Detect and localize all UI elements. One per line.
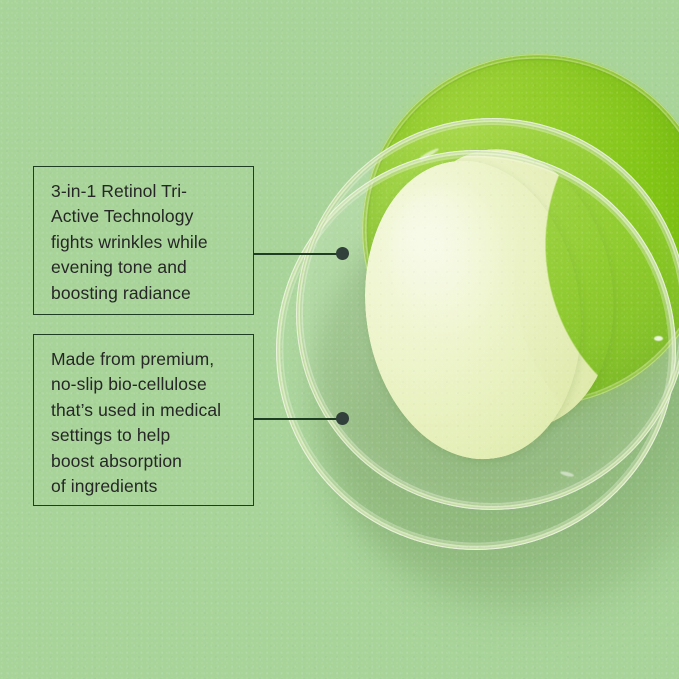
leader-line-retinol bbox=[253, 253, 339, 255]
leader-line-biocellulose bbox=[253, 418, 339, 420]
product-feature-graphic: 3-in-1 Retinol Tri- Active Technology fi… bbox=[0, 0, 679, 679]
callout-box-biocellulose: Made from premium, no-slip bio-cellulose… bbox=[33, 334, 254, 506]
rim-highlight-speck bbox=[654, 336, 663, 341]
callout-text-retinol: 3-in-1 Retinol Tri- Active Technology fi… bbox=[51, 179, 243, 306]
leader-dot-retinol bbox=[336, 247, 349, 260]
leader-dot-biocellulose bbox=[336, 412, 349, 425]
callout-text-biocellulose: Made from premium, no-slip bio-cellulose… bbox=[51, 347, 243, 499]
glass-petri-dish-lid bbox=[296, 118, 679, 510]
callout-box-retinol: 3-in-1 Retinol Tri- Active Technology fi… bbox=[33, 166, 254, 315]
